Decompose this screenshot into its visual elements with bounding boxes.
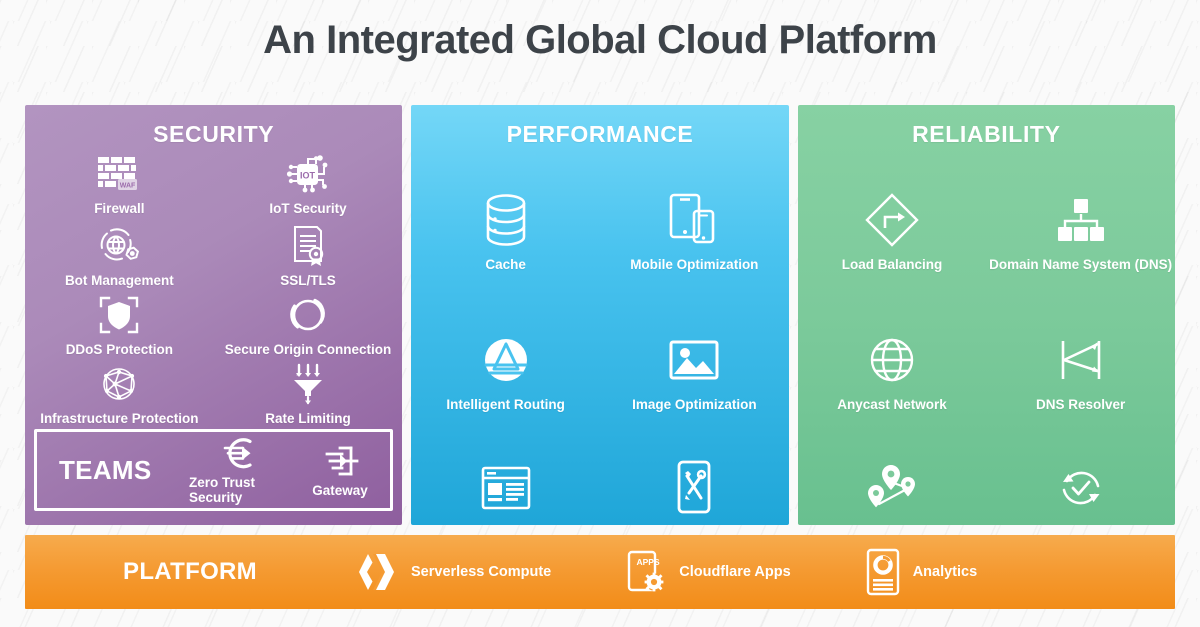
workers-chevrons-icon [355,551,399,593]
feature-ddos-protection[interactable]: DDoS Protection [25,294,214,363]
map-pins-route-icon [866,457,918,519]
zero-trust-arrow-circle-icon [217,435,261,473]
feature-mobile-optimization[interactable]: Mobile Optimization [600,171,789,311]
iot-chip-circuit-icon: IOT [285,153,331,195]
feature-label: Mobile Optimization [630,257,758,272]
feature-bot-management[interactable]: Bot Management [25,225,214,294]
feature-label: Zero Trust Security [189,475,290,505]
feature-load-balancing[interactable]: Load Balancing [798,171,987,311]
platform-item-label: Analytics [913,564,977,580]
pillar-columns: SECURITY WAF [25,105,1175,525]
feature-image-optimization[interactable]: Image Optimization [600,311,789,439]
feature-cache[interactable]: Cache [411,171,600,311]
feature-zero-trust-security[interactable]: Zero Trust Security [189,435,290,505]
diamond-arrow-icon [864,189,920,251]
column-security: SECURITY WAF [25,105,402,525]
feature-ssl-tls[interactable]: SSL/TLS [214,225,403,294]
feature-iot-security[interactable]: IOT IoT Security [214,153,403,225]
feature-label: DDoS Protection [66,342,173,357]
feature-secure-origin-connection[interactable]: Secure Origin Connection [214,294,403,363]
refresh-check-icon [1056,457,1106,519]
bot-globe-gear-icon [97,225,141,267]
column-heading-security: SECURITY [25,105,402,148]
zigzag-arrows-icon [1058,329,1104,391]
column-reliability: RELIABILITY Load Balancing [798,105,1175,525]
phone-tools-icon [674,457,714,519]
security-feature-grid: WAF Firewall [25,153,402,432]
feature-firewall[interactable]: WAF Firewall [25,153,214,225]
feature-label: DNS Resolver [1036,397,1125,412]
feature-content-optimization[interactable]: Content Optimization [411,439,600,525]
feature-dns[interactable]: Domain Name System (DNS) [986,171,1175,311]
feature-gateway[interactable]: Gateway [290,443,391,498]
platform-label: PLATFORM [25,558,355,586]
feature-rate-limiting[interactable]: Rate Limiting [214,363,403,432]
feature-dns-resolver[interactable]: DNS Resolver [986,311,1175,439]
column-performance: PERFORMANCE [411,105,788,525]
analytics-donut-document-icon [865,548,901,596]
feature-label: Rate Limiting [265,411,351,426]
platform-item-label: Cloudflare Apps [679,564,790,580]
feature-intelligent-routing[interactable]: Intelligent Routing [411,311,600,439]
routing-circle-path-icon [481,329,531,391]
feature-label: Infrastructure Protection [40,411,198,426]
teams-label: TEAMS [37,455,189,486]
feature-label: Secure Origin Connection [225,342,392,357]
certificate-seal-icon [289,225,327,267]
platform-item-label: Serverless Compute [411,564,551,580]
browser-window-icon [480,457,532,519]
feature-label: Domain Name System (DNS) [989,257,1172,272]
reliability-feature-grid: Load Balancing [798,171,1175,525]
ring-circle-icon [287,294,329,336]
tablet-phone-icon [668,189,720,251]
svg-text:WAF: WAF [120,183,136,190]
network-polyhedron-icon [98,363,140,405]
feature-label: IoT Security [269,201,346,216]
hierarchy-tree-icon [1054,189,1108,251]
database-cylinder-icon [482,189,530,251]
apps-card-gear-icon: APPS [625,549,667,595]
feature-label: Load Balancing [842,257,943,272]
firewall-brickwall-waf-icon: WAF [96,153,142,195]
feature-label: Bot Management [65,273,174,288]
feature-mobile-sdk[interactable]: Mobile SDK [600,439,789,525]
svg-text:APPS: APPS [637,557,660,567]
teams-box: TEAMS Zero Trust Security [34,429,393,511]
column-heading-performance: PERFORMANCE [411,105,788,148]
picture-frame-icon [668,329,720,391]
slide-canvas: An Integrated Global Cloud Platform SECU… [0,0,1200,627]
platform-item-analytics[interactable]: Analytics [865,548,977,596]
feature-label: Firewall [94,201,144,216]
globe-icon [868,329,916,391]
funnel-arrows-icon [288,363,328,405]
feature-label: Anycast Network [837,397,947,412]
performance-feature-grid: Cache [411,171,788,525]
svg-text:IOT: IOT [300,171,316,181]
column-heading-reliability: RELIABILITY [798,105,1175,148]
page-title: An Integrated Global Cloud Platform [0,18,1200,63]
feature-anycast-network[interactable]: Anycast Network [798,311,987,439]
feature-virtual-backbone[interactable]: Virtual Backbone [798,439,987,525]
shield-crosshair-icon [98,294,140,336]
feature-infrastructure-protection[interactable]: Infrastructure Protection [25,363,214,432]
feature-label: Image Optimization [632,397,757,412]
platform-item-serverless-compute[interactable]: Serverless Compute [355,551,551,593]
feature-label: Intelligent Routing [446,397,564,412]
platform-item-cloudflare-apps[interactable]: APPS Cloudflare A [625,549,790,595]
feature-always-online[interactable]: Always Online [986,439,1175,525]
feature-label: SSL/TLS [280,273,336,288]
feature-label: Gateway [312,483,368,498]
gateway-arrow-bracket-icon [318,443,362,481]
feature-label: Cache [485,257,526,272]
platform-bar: PLATFORM Serverless Compute APPS [25,535,1175,609]
